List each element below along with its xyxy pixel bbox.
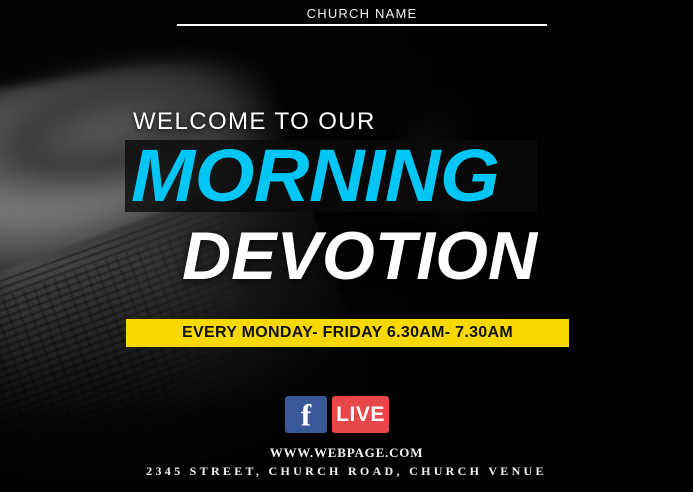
title-morning: MORNING: [131, 133, 499, 219]
header-divider-line: [177, 24, 547, 26]
footer-website[interactable]: WWW.WEBPAGE.COM: [0, 444, 693, 461]
welcome-text: WELCOME TO OUR: [133, 108, 376, 136]
schedule-text: EVERY MONDAY- FRIDAY 6.30AM- 7.30AM: [182, 324, 513, 342]
schedule-banner: EVERY MONDAY- FRIDAY 6.30AM- 7.30AM: [126, 319, 569, 347]
facebook-icon[interactable]: f: [285, 396, 327, 433]
church-flyer: CHURCH NAME WELCOME TO OUR MORNING DEVOT…: [0, 0, 693, 492]
footer: WWW.WEBPAGE.COM 2345 STREET, CHURCH ROAD…: [0, 444, 693, 479]
live-badge[interactable]: LIVE: [332, 396, 389, 433]
header: CHURCH NAME: [177, 6, 547, 26]
facebook-live-badge[interactable]: f LIVE: [285, 396, 389, 433]
live-label: LIVE: [336, 404, 385, 425]
footer-address: 2345 STREET, CHURCH ROAD, CHURCH VENUE: [0, 464, 693, 479]
title-devotion: DEVOTION: [182, 216, 537, 296]
church-name-title: CHURCH NAME: [177, 6, 547, 22]
facebook-f-glyph: f: [285, 399, 327, 430]
